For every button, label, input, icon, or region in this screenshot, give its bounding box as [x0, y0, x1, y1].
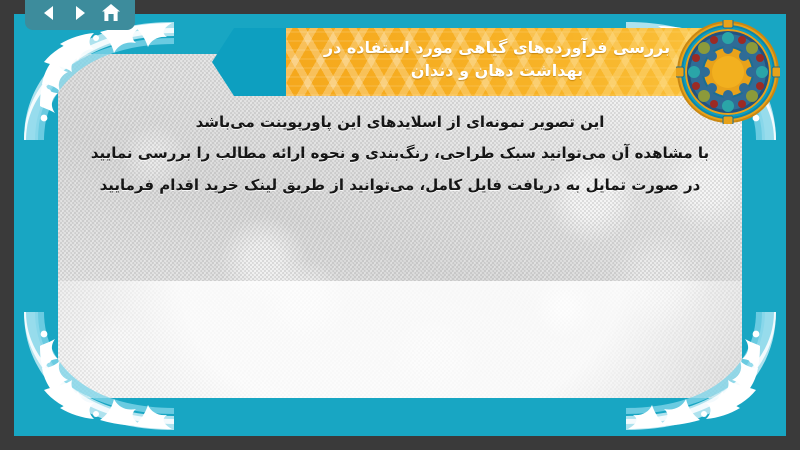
- slide-content-area: [58, 54, 742, 398]
- slide-title-line1: بررسی فرآورده‌های گیاهی مورد استفاده در: [300, 36, 694, 59]
- navigation-bar: [25, 0, 135, 30]
- body-line-2: با مشاهده آن می‌توانید سبک طراحی، رنگ‌بن…: [58, 141, 742, 165]
- presentation-slide: بررسی فرآورده‌های گیاهی مورد استفاده در …: [14, 14, 786, 436]
- forward-button[interactable]: [67, 1, 93, 25]
- diagonal-texture: [58, 54, 742, 398]
- body-line-1: این تصویر نمونه‌ای از اسلایدهای این پاور…: [58, 110, 742, 134]
- home-button[interactable]: [98, 1, 124, 25]
- back-button[interactable]: [36, 1, 62, 25]
- slide-title: بررسی فرآورده‌های گیاهی مورد استفاده در …: [286, 28, 736, 82]
- persian-medallion-ornament: [676, 20, 780, 124]
- triangle-left-icon: [39, 3, 59, 23]
- triangle-right-icon: [70, 3, 90, 23]
- light-sweep: [58, 281, 742, 398]
- slide-title-banner: بررسی فرآورده‌های گیاهی مورد استفاده در …: [286, 28, 736, 96]
- slide-body-text: این تصویر نمونه‌ای از اسلایدهای این پاور…: [58, 110, 742, 204]
- banner-ribbon-tail: [212, 28, 292, 96]
- halftone-texture: [58, 54, 742, 398]
- home-icon: [100, 2, 122, 24]
- slide-title-line2: بهداشت دهان و دندان: [300, 59, 694, 82]
- desktop-root: بررسی فرآورده‌های گیاهی مورد استفاده در …: [0, 0, 800, 450]
- body-line-3: در صورت تمایل به دریافت فایل کامل، می‌تو…: [58, 173, 742, 197]
